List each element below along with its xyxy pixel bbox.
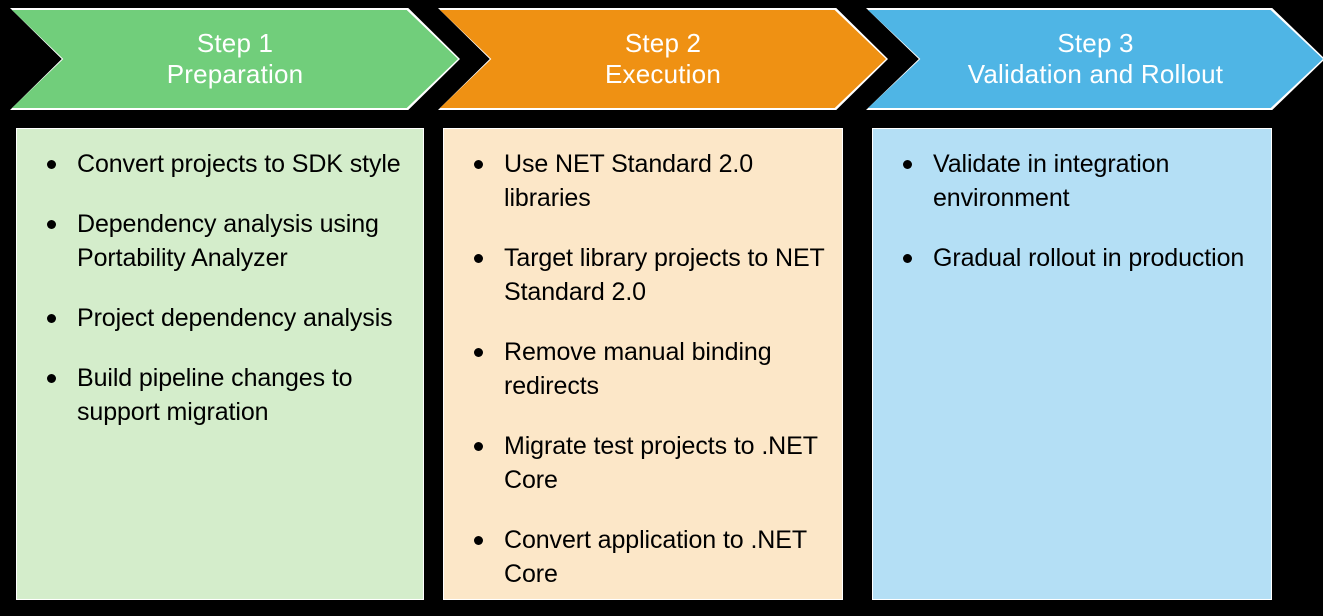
list-item: Build pipeline changes to support migrat… xyxy=(31,361,409,429)
bullet-dot-icon xyxy=(474,348,483,357)
bullet-dot-icon xyxy=(474,254,483,263)
step-1-content-panel: Convert projects to SDK style Dependency… xyxy=(16,128,424,600)
list-item-text: Convert application to .NET Core xyxy=(504,526,807,588)
step-2-name: Execution xyxy=(605,59,721,90)
bullet-dot-icon xyxy=(903,160,912,169)
list-item-text: Remove manual binding redirects xyxy=(504,338,772,400)
step-3-header-chevron[interactable]: Step 3 Validation and Rollout xyxy=(868,10,1323,108)
list-item: Migrate test projects to .NET Core xyxy=(458,429,828,497)
list-item-text: Project dependency analysis xyxy=(77,304,393,332)
list-item: Convert projects to SDK style xyxy=(31,147,409,181)
step-3-name: Validation and Rollout xyxy=(968,59,1223,90)
bullet-dot-icon xyxy=(47,374,56,383)
step-3-content-panel: Validate in integration environment Grad… xyxy=(872,128,1272,600)
list-item: Use NET Standard 2.0 libraries xyxy=(458,147,828,215)
list-item: Convert application to .NET Core xyxy=(458,523,828,591)
list-item-text: Gradual rollout in production xyxy=(933,244,1244,272)
bullet-dot-icon xyxy=(903,254,912,263)
list-item-text: Dependency analysis using Portability An… xyxy=(77,210,379,272)
step-1-name: Preparation xyxy=(167,59,304,90)
list-item-text: Use NET Standard 2.0 libraries xyxy=(504,150,753,212)
step-2-header-chevron[interactable]: Step 2 Execution xyxy=(440,10,886,108)
bullet-dot-icon xyxy=(474,160,483,169)
step-2-content-panel: Use NET Standard 2.0 libraries Target li… xyxy=(443,128,843,600)
step-3-label: Step 3 xyxy=(1057,28,1133,59)
list-item-text: Convert projects to SDK style xyxy=(77,150,401,178)
step-1-bullet-list: Convert projects to SDK style Dependency… xyxy=(31,147,409,429)
step-1-header-chevron[interactable]: Step 1 Preparation xyxy=(12,10,458,108)
bullet-dot-icon xyxy=(47,220,56,229)
step-2-bullet-list: Use NET Standard 2.0 libraries Target li… xyxy=(458,147,828,591)
list-item: Remove manual binding redirects xyxy=(458,335,828,403)
list-item: Target library projects to NET Standard … xyxy=(458,241,828,309)
diagram-canvas: Step 1 Preparation Step 2 Execution Step… xyxy=(0,0,1323,616)
step-3-bullet-list: Validate in integration environment Grad… xyxy=(887,147,1257,275)
list-item-text: Migrate test projects to .NET Core xyxy=(504,432,817,494)
bullet-dot-icon xyxy=(47,314,56,323)
list-item-text: Validate in integration environment xyxy=(933,150,1169,212)
list-item-text: Build pipeline changes to support migrat… xyxy=(77,364,352,426)
list-item: Dependency analysis using Portability An… xyxy=(31,207,409,275)
list-item: Validate in integration environment xyxy=(887,147,1257,215)
step-1-label: Step 1 xyxy=(197,28,273,59)
step-2-label: Step 2 xyxy=(625,28,701,59)
bullet-dot-icon xyxy=(474,442,483,451)
list-item: Gradual rollout in production xyxy=(887,241,1257,275)
list-item-text: Target library projects to NET Standard … xyxy=(504,244,824,306)
bullet-dot-icon xyxy=(47,160,56,169)
bullet-dot-icon xyxy=(474,536,483,545)
list-item: Project dependency analysis xyxy=(31,301,409,335)
